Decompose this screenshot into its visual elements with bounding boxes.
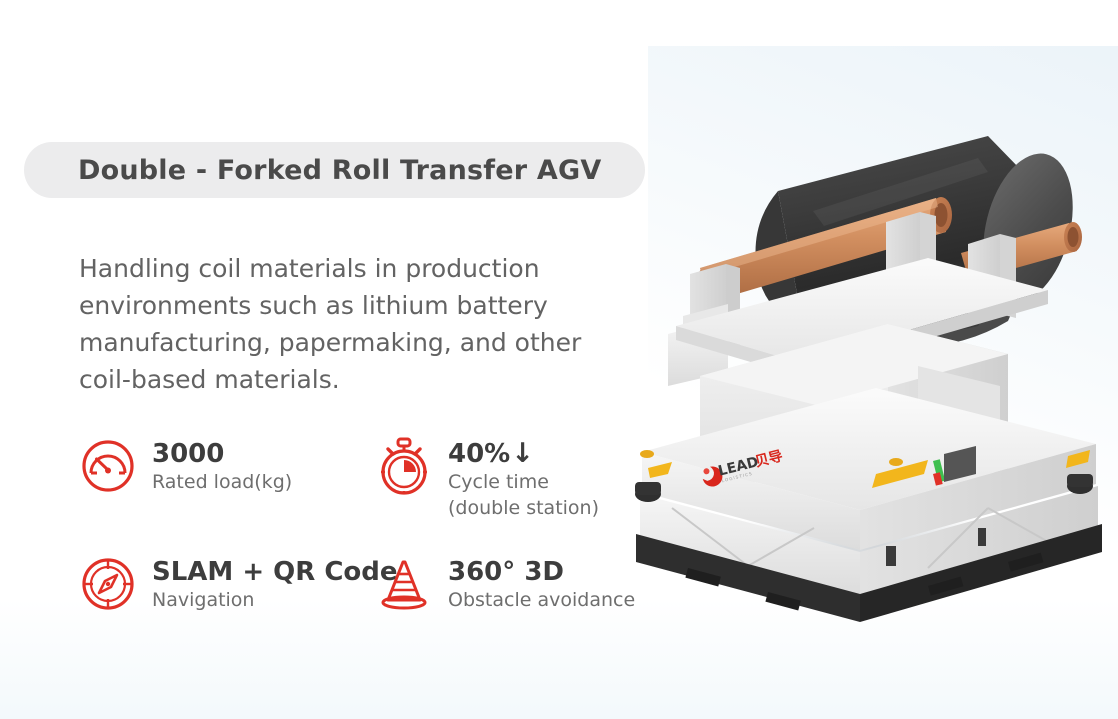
feature-text: 40% ↓ Cycle time (double station) bbox=[448, 436, 674, 521]
feature-value: 3000 bbox=[152, 439, 292, 469]
description-line-1: Handling coil materials in production bbox=[79, 250, 649, 287]
feature-value-number: 40% bbox=[448, 439, 510, 469]
traffic-cone-icon bbox=[374, 554, 434, 614]
gauge-icon bbox=[78, 436, 138, 496]
background-top-fade bbox=[0, 0, 1118, 46]
feature-value: 360° 3D bbox=[448, 557, 635, 587]
product-title-pill: Double - Forked Roll Transfer AGV bbox=[24, 142, 645, 198]
feature-rated-load: 3000 Rated load(kg) bbox=[78, 436, 374, 554]
page-title: Double - Forked Roll Transfer AGV bbox=[78, 155, 601, 186]
feature-text: 3000 Rated load(kg) bbox=[152, 436, 292, 495]
description-line-2: environments such as lithium battery bbox=[79, 287, 649, 324]
feature-cycle-time: 40% ↓ Cycle time (double station) bbox=[374, 436, 674, 554]
feature-value-number: 3000 bbox=[152, 439, 224, 469]
feature-spec-grid: 3000 Rated load(kg) bbox=[78, 436, 678, 614]
feature-label: Obstacle avoidance bbox=[448, 589, 635, 611]
product-highlight-slide: LEAD 贝导 LOGISTICS bbox=[0, 0, 1118, 719]
feature-navigation: SLAM + QR Code Navigation bbox=[78, 554, 374, 614]
feature-label: Navigation bbox=[152, 589, 254, 611]
feature-text: SLAM + QR Code Navigation bbox=[152, 554, 398, 613]
description-line-4: coil-based materials. bbox=[79, 361, 649, 398]
feature-row-2: SLAM + QR Code Navigation bbox=[78, 554, 678, 614]
feature-value: 40% ↓ bbox=[448, 439, 674, 469]
feature-value: SLAM + QR Code bbox=[152, 557, 398, 587]
feature-row-1: 3000 Rated load(kg) bbox=[78, 436, 678, 554]
feature-obstacle-avoidance: 360° 3D Obstacle avoidance bbox=[374, 554, 674, 614]
feature-label: Rated load(kg) bbox=[152, 471, 292, 493]
feature-label: Cycle time bbox=[448, 471, 549, 493]
feature-sublabel: (double station) bbox=[448, 497, 599, 519]
feature-value-number: 360° 3D bbox=[448, 557, 564, 587]
down-arrow-icon: ↓ bbox=[511, 439, 534, 469]
feature-text: 360° 3D Obstacle avoidance bbox=[448, 554, 635, 613]
feature-value-number: SLAM + QR Code bbox=[152, 557, 398, 587]
product-image: LEAD 贝导 LOGISTICS bbox=[628, 76, 1118, 636]
stopwatch-icon bbox=[374, 436, 434, 496]
compass-icon bbox=[78, 554, 138, 614]
description-line-3: manufacturing, papermaking, and other bbox=[79, 324, 649, 361]
product-description: Handling coil materials in production en… bbox=[79, 250, 649, 398]
